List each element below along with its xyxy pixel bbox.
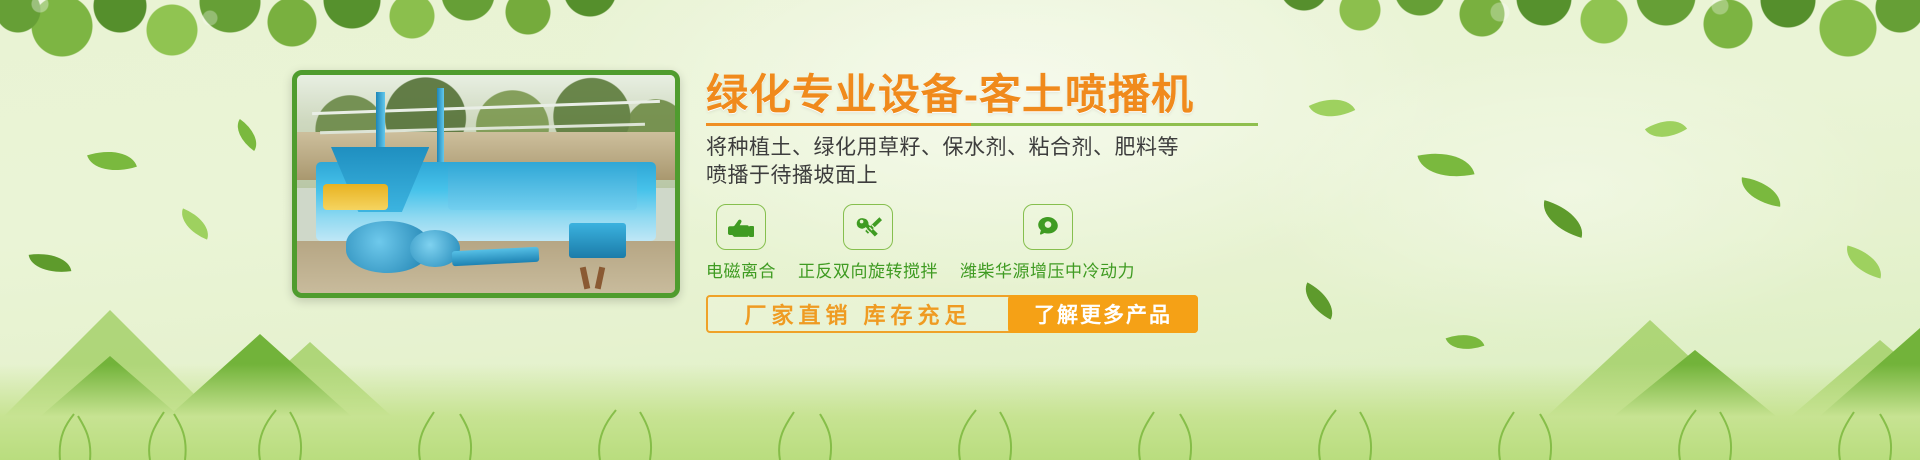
- feature-item-electromagnetic-clutch[interactable]: 电磁离合: [706, 204, 776, 282]
- feature-label: 电磁离合: [706, 257, 776, 282]
- feature-label: 正反双向旋转搅拌: [798, 257, 938, 282]
- banner-subtitle: 将种植土、绿化用草籽、保水剂、粘合剂、肥料等 喷播于待播坡面上: [706, 134, 1276, 190]
- leaf-decoration: [1309, 88, 1355, 127]
- product-photo[interactable]: [292, 70, 680, 298]
- engine-gear-icon: [1023, 204, 1073, 250]
- subtitle-line-1: 将种植土、绿化用草籽、保水剂、粘合剂、肥料等: [706, 134, 1276, 162]
- cta-bar: 厂家直销 库存充足 了解更多产品: [706, 295, 1198, 333]
- promo-banner: 绿化专业设备-客土喷播机 将种植土、绿化用草籽、保水剂、粘合剂、肥料等 喷播于待…: [0, 0, 1920, 460]
- leaf-decoration: [1417, 145, 1474, 185]
- feature-item-weichai-power[interactable]: 潍柴华源增压中冷动力: [960, 204, 1135, 282]
- leaf-decoration: [87, 142, 137, 180]
- machine-control-box: [569, 223, 626, 258]
- title-divider: [706, 123, 1258, 126]
- wrench-screwdriver-icon: [843, 204, 893, 250]
- learn-more-button[interactable]: 了解更多产品: [1008, 295, 1198, 333]
- leaf-decoration: [1739, 177, 1784, 207]
- subtitle-line-2: 喷播于待播坡面上: [706, 162, 1276, 190]
- page-title: 绿化专业设备-客土喷播机: [706, 72, 1276, 117]
- leaf-decoration: [1645, 110, 1687, 148]
- banner-content: 绿化专业设备-客土喷播机 将种植土、绿化用草籽、保水剂、粘合剂、肥料等 喷播于待…: [706, 72, 1276, 333]
- cta-slogan: 厂家直销 库存充足: [708, 297, 1008, 331]
- machine-engine: [323, 184, 387, 210]
- machine-tank: [448, 162, 637, 210]
- leaf-decoration: [230, 119, 265, 151]
- clutch-hand-icon: [716, 204, 766, 250]
- feature-list: 电磁离合 正反双向旋转搅拌: [706, 204, 1276, 282]
- grass-blades-decoration: [0, 380, 1920, 460]
- leaf-decoration: [175, 208, 214, 239]
- feature-item-bidirectional-mixing[interactable]: 正反双向旋转搅拌: [798, 204, 938, 282]
- leaf-decoration: [1537, 200, 1588, 238]
- feature-label: 潍柴华源增压中冷动力: [960, 257, 1135, 282]
